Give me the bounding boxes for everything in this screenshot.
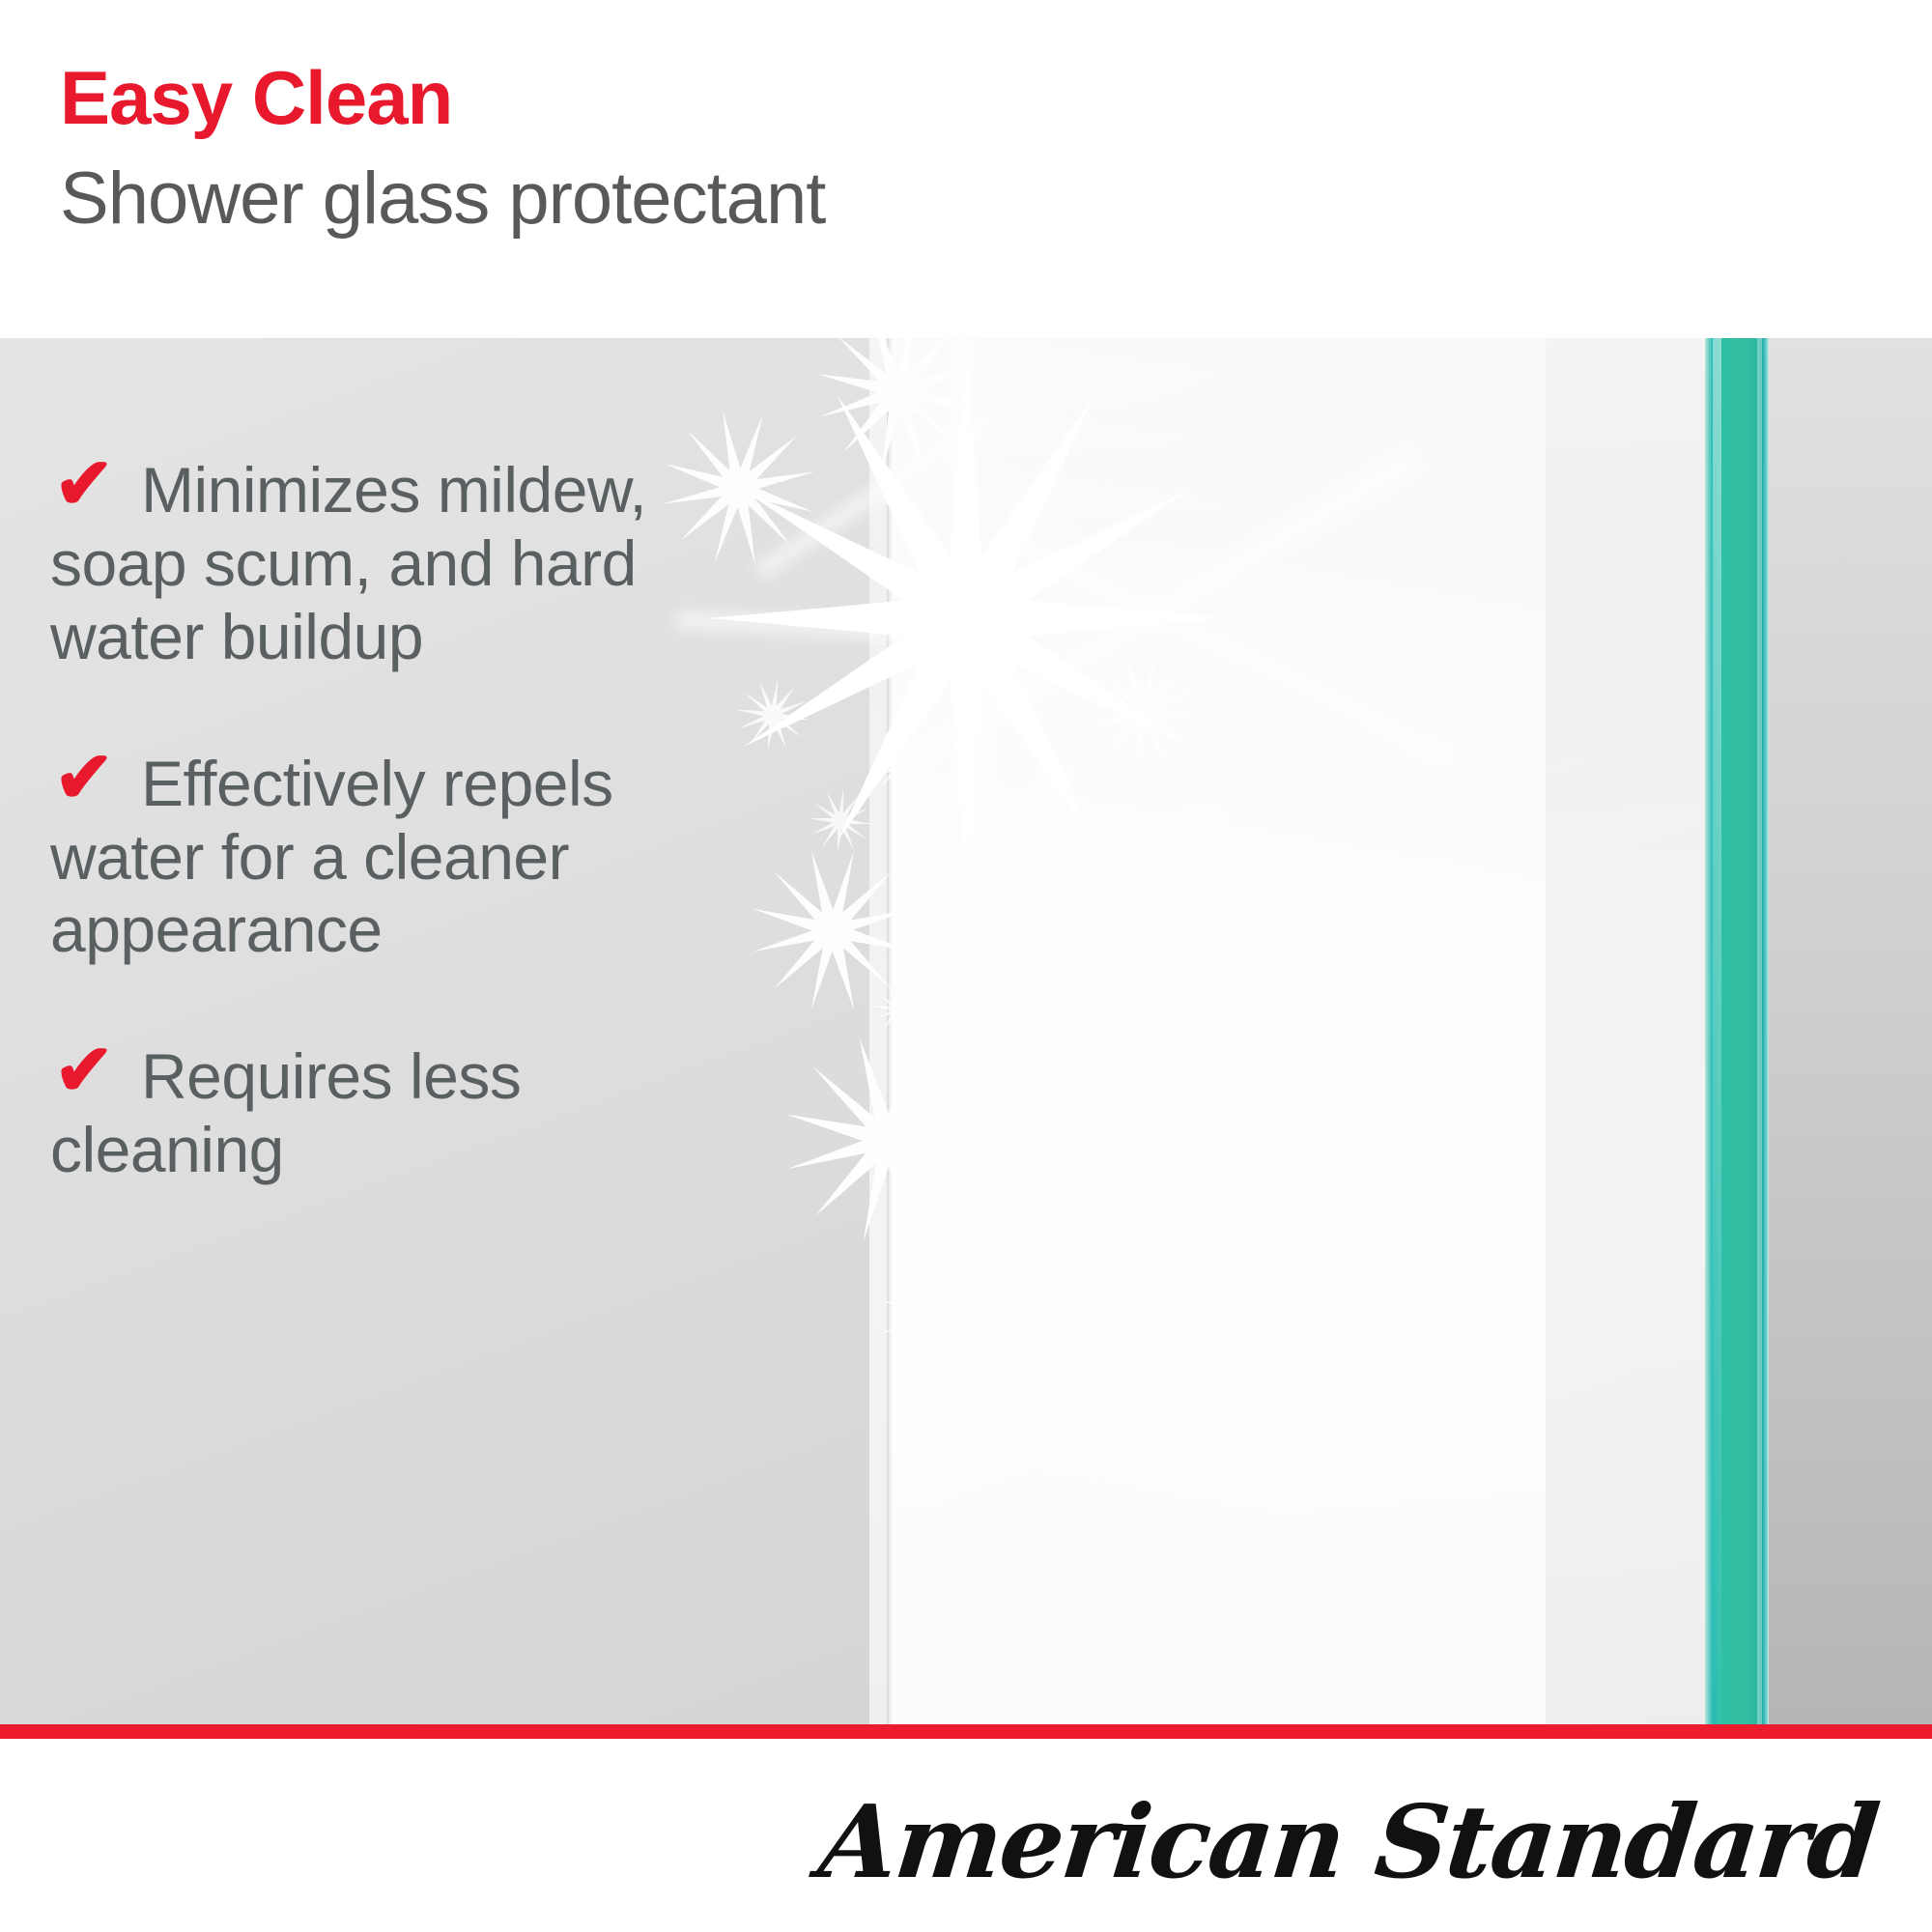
list-item: ✔ Requires less cleaning: [50, 1040, 746, 1187]
check-icon: ✔: [54, 1035, 133, 1106]
promo-graphic: Easy Clean Shower glass protectant ✔ Min…: [0, 0, 1932, 1932]
check-icon: ✔: [54, 448, 133, 520]
check-icon: ✔: [54, 742, 133, 813]
brand-logo: American Standard: [813, 1782, 1882, 1901]
page-title: Easy Clean: [60, 60, 452, 135]
list-item-label: Effectively repels water for a cleaner a…: [50, 748, 613, 966]
background-right-band: [1768, 338, 1932, 1724]
page-subtitle: Shower glass protectant: [60, 162, 825, 236]
frosted-glass-left-edge: [887, 338, 893, 1724]
light-streak: [947, 319, 976, 647]
header-band: Easy Clean Shower glass protectant: [0, 0, 1932, 338]
red-divider: [0, 1724, 1932, 1739]
list-item: ✔ Effectively repels water for a cleaner…: [50, 748, 746, 968]
feature-list: ✔ Minimizes mildew, soap scum, and hard …: [50, 454, 746, 1261]
frosted-glass-surface: [889, 338, 1546, 1724]
list-item: ✔ Minimizes mildew, soap scum, and hard …: [50, 454, 746, 674]
light-streak: [966, 638, 993, 947]
list-item-label: Minimizes mildew, soap scum, and hard wa…: [50, 454, 646, 672]
